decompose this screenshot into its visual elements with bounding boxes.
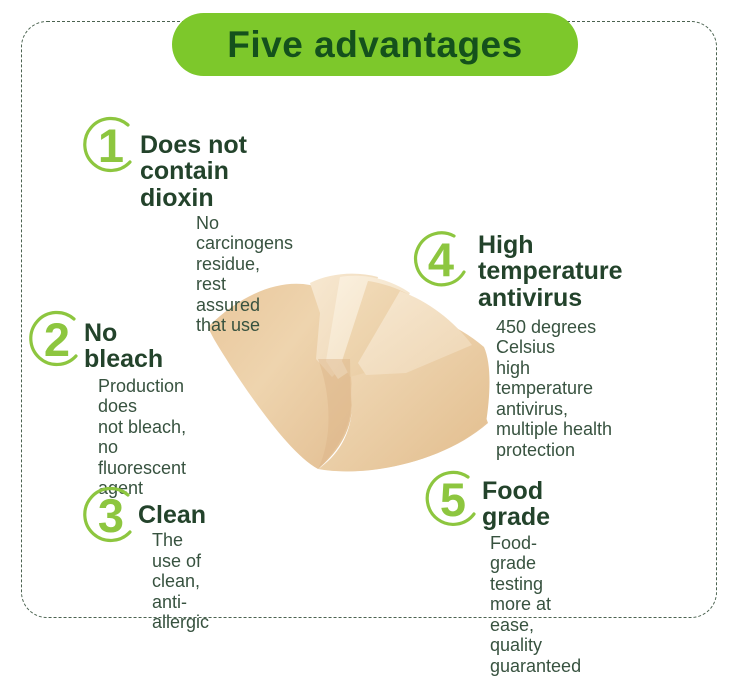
svg-text:5: 5 [440,473,466,526]
svg-text:4: 4 [428,233,454,286]
advantage-1-heading: Does not contain dioxin [140,132,293,211]
advantage-4-body: 450 degrees Celsius high temperature ant… [496,317,622,461]
advantage-2-body: Production does not bleach, no fluoresce… [98,376,186,499]
advantage-3-heading: Clean [138,502,209,528]
page-title: Five advantages [227,26,522,63]
number-badge-1: 1 [78,112,144,178]
advantage-4-text: High temperature antivirus 450 degrees C… [478,232,622,460]
number-badge-3: 3 [78,482,144,548]
advantage-5-heading: Food grade [482,478,581,531]
svg-text:1: 1 [98,119,124,172]
number-badge-2: 2 [24,306,90,372]
advantage-1-text: Does not contain dioxin No carcinogens r… [140,132,293,336]
advantage-2-heading: No bleach [84,320,186,373]
advantage-2-text: No bleach Production does not bleach, no… [84,320,186,499]
advantage-1-body: No carcinogens residue, rest assured tha… [196,213,293,336]
advantage-3-text: Clean The use of clean, anti-allergic [138,502,209,633]
advantage-3-body: The use of clean, anti-allergic [152,530,209,633]
number-badge-4: 4 [408,226,474,292]
advantage-4-heading: High temperature antivirus [478,232,622,311]
svg-text:3: 3 [98,489,124,542]
page-title-pill: Five advantages [172,13,578,76]
advantage-5-text: Food grade Food-grade testing more at ea… [482,478,581,676]
svg-text:2: 2 [44,313,70,366]
number-badge-5: 5 [420,466,486,532]
advantage-5-body: Food-grade testing more at ease, quality… [490,533,581,676]
